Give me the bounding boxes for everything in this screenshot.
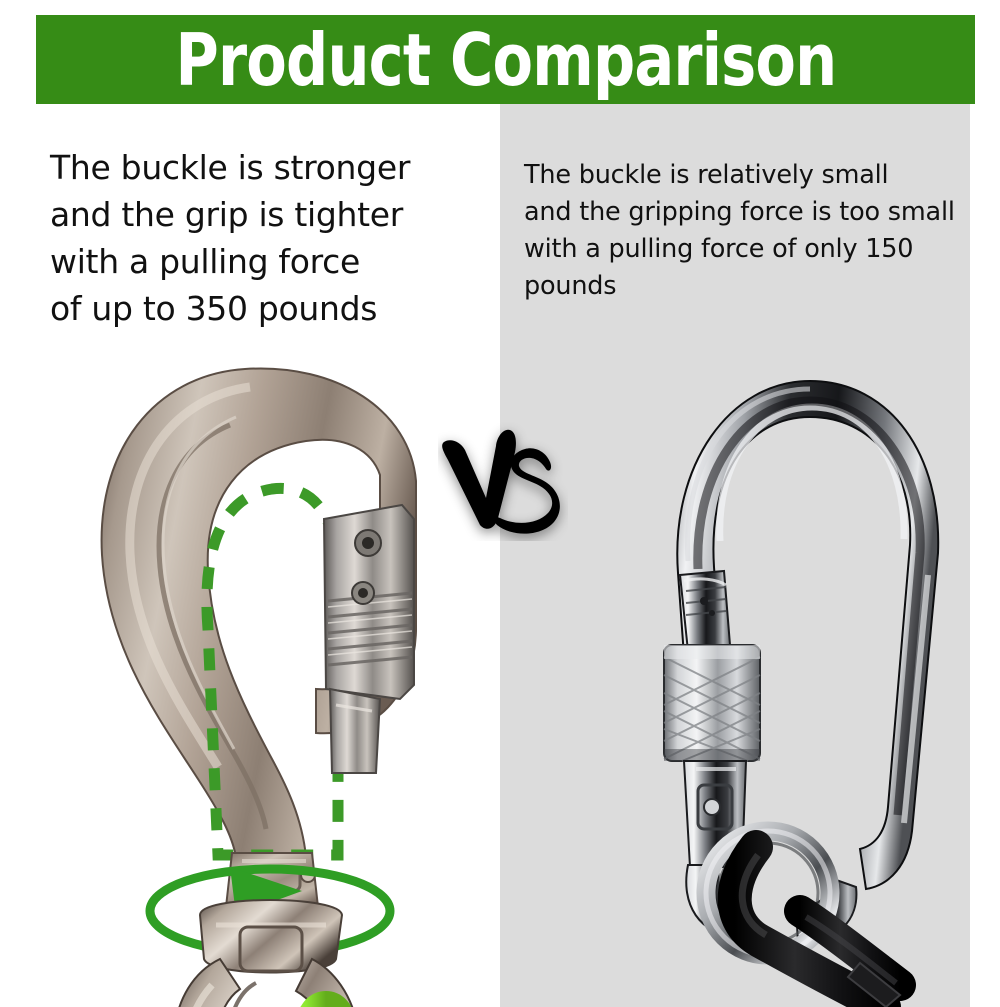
product-comparison-image: Product Comparison The buckle is stronge… bbox=[0, 0, 1000, 1007]
left-product-description: The buckle is stronger and the grip is t… bbox=[50, 144, 470, 332]
right-product-photo bbox=[560, 345, 960, 1007]
header-banner: Product Comparison bbox=[36, 15, 975, 104]
right-product-description: The buckle is relatively small and the g… bbox=[524, 157, 976, 305]
left-product-photo bbox=[80, 355, 440, 1007]
versus-badge bbox=[438, 416, 568, 541]
page-title: Product Comparison bbox=[175, 22, 836, 98]
